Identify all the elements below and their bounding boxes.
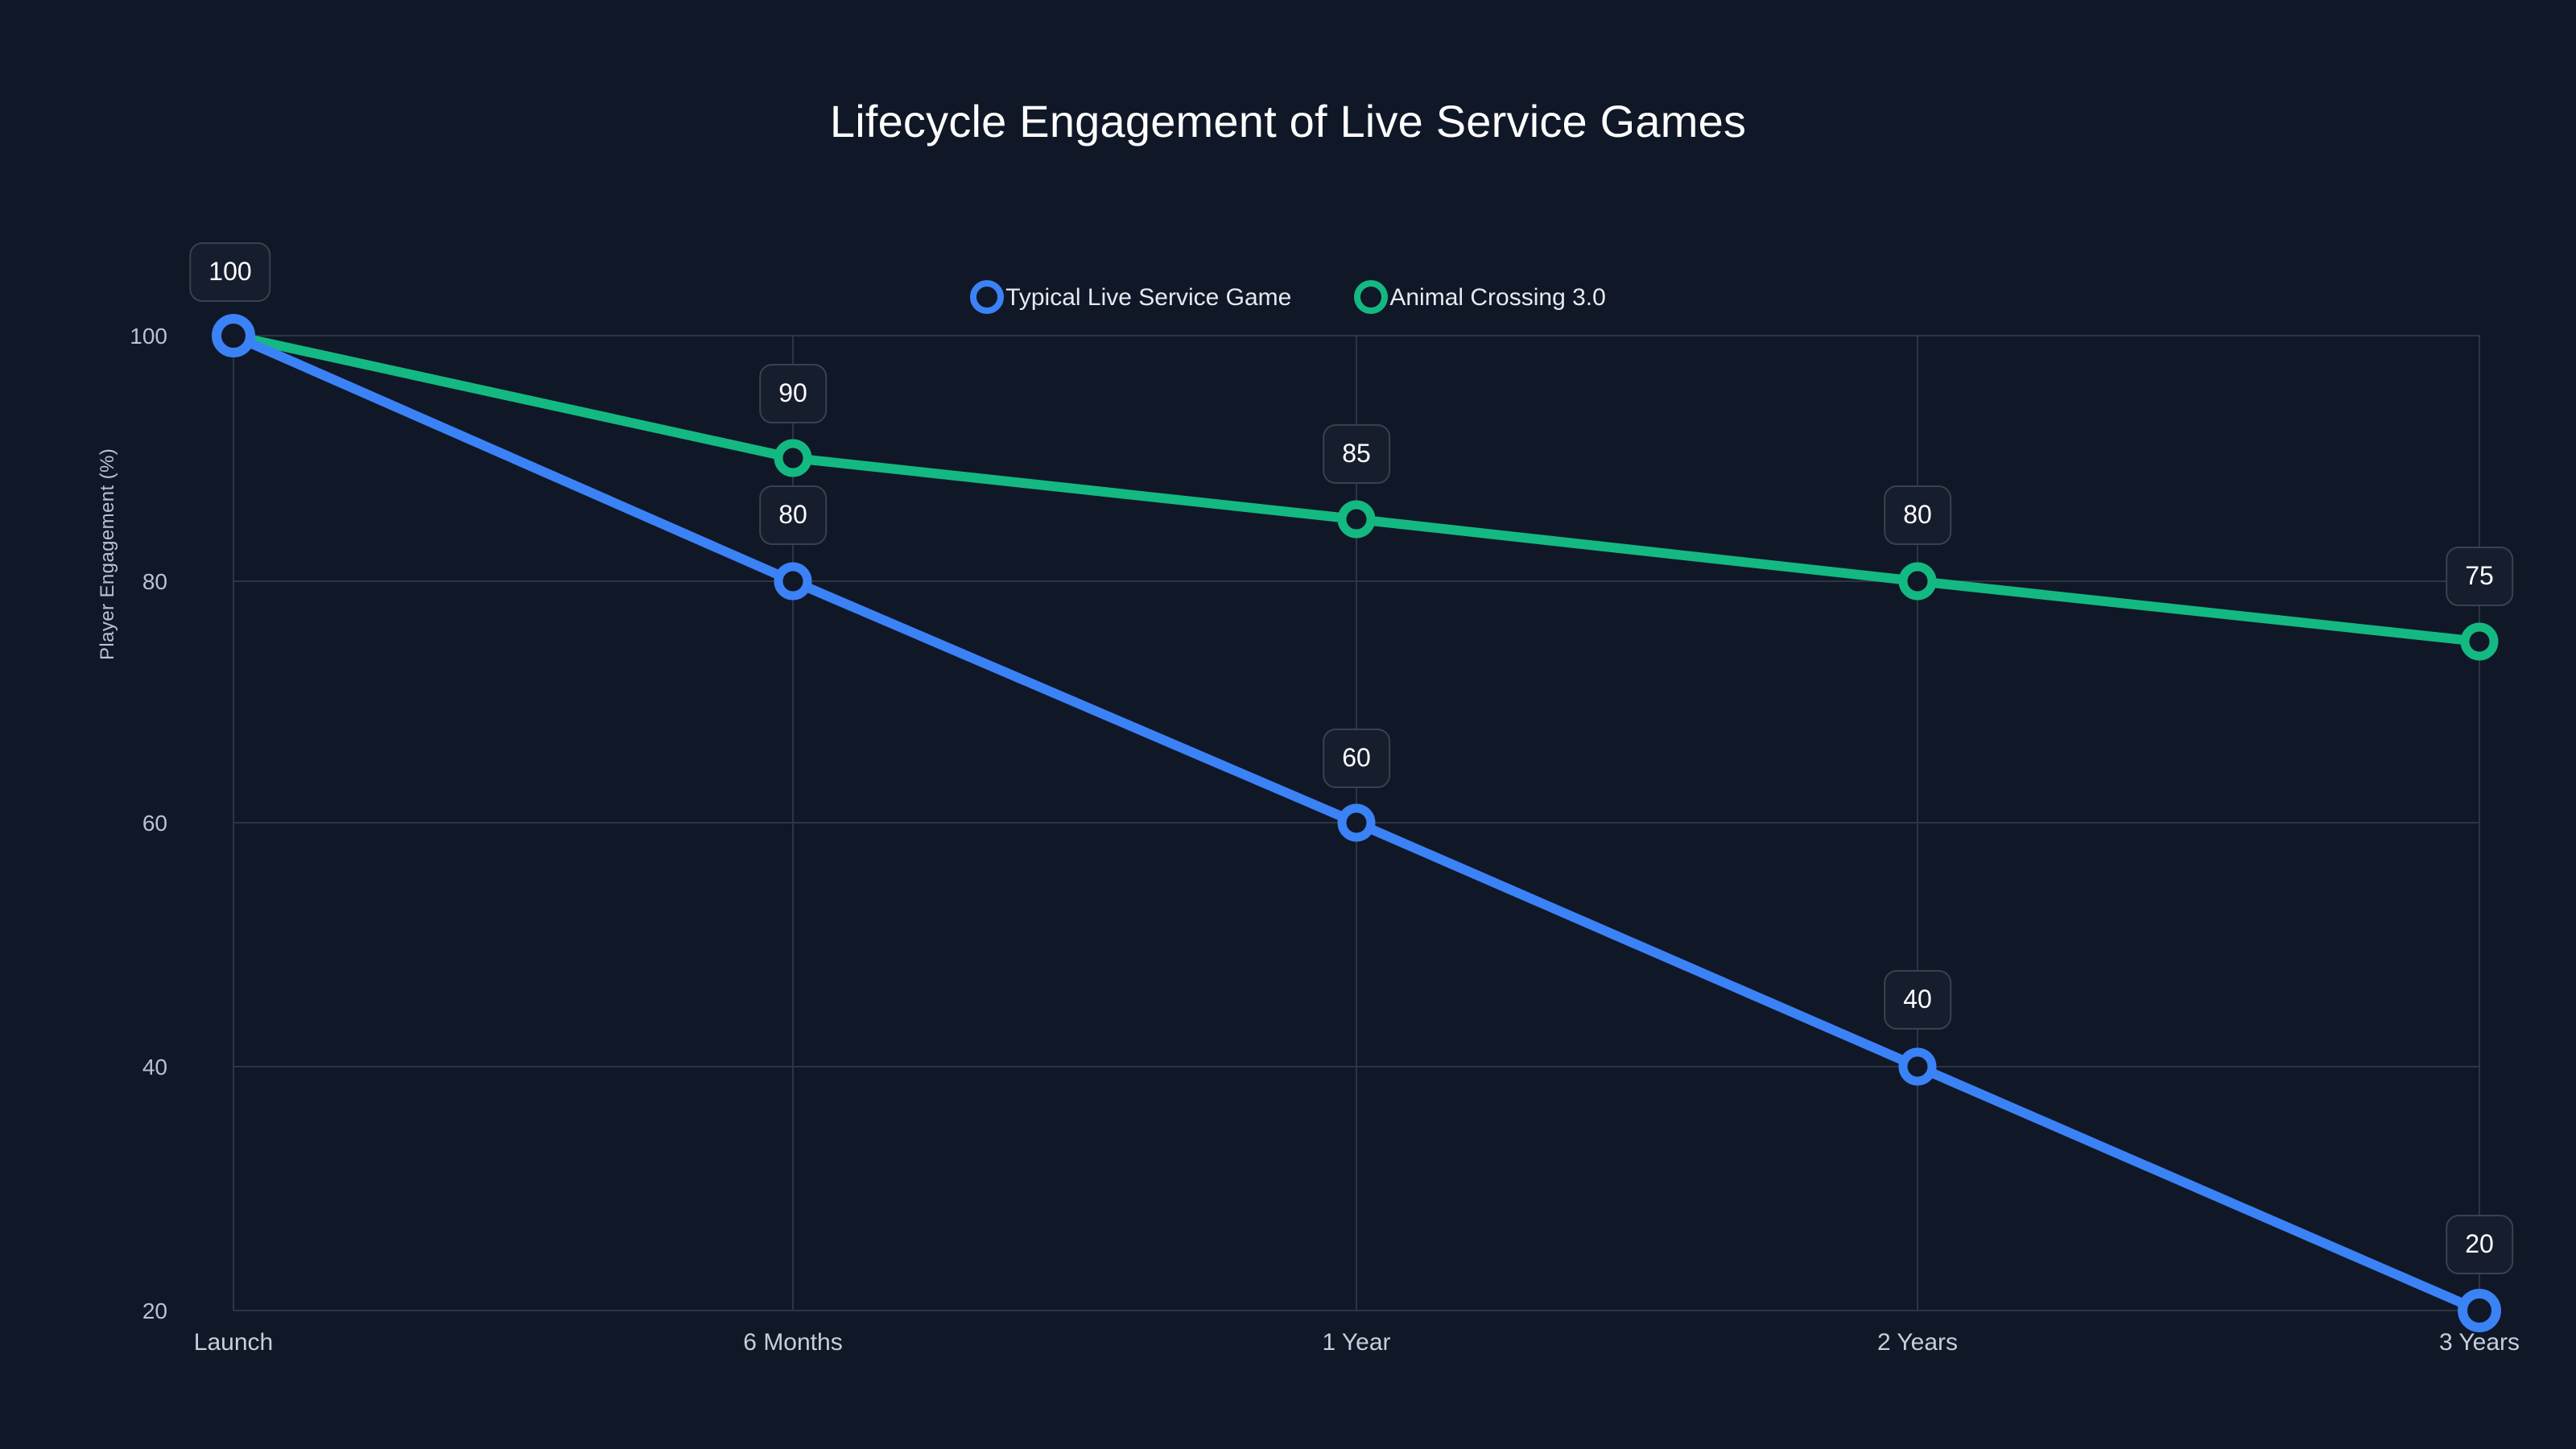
data-label-typical-6-months: 80: [759, 485, 827, 545]
y-axis-tick-20: 20: [95, 1300, 167, 1323]
y-axis-tick-80: 80: [95, 571, 167, 593]
y-axis-tick-100: 100: [95, 325, 167, 348]
data-point-marker[interactable]: [2465, 627, 2494, 656]
x-axis-tick-1-year: 1 Year: [1322, 1331, 1390, 1355]
x-axis-tick-6-months: 6 Months: [743, 1331, 842, 1355]
data-point-marker[interactable]: [1903, 1052, 1932, 1081]
data-label-typical-2-years: 40: [1884, 970, 1951, 1030]
data-label-animal-crossing-2-years: 80: [1884, 485, 1951, 545]
data-label-animal-crossing-1-year: 85: [1323, 424, 1390, 484]
data-label-animal-crossing-3-years: 75: [2446, 547, 2513, 606]
data-label-animal-crossing-6-months: 90: [759, 364, 827, 423]
data-label-launch-100: 100: [189, 242, 270, 302]
y-axis-tick-40: 40: [95, 1056, 167, 1079]
y-axis-tick-60: 60: [95, 812, 167, 835]
data-label-typical-1-year: 60: [1323, 729, 1390, 788]
x-axis-tick-2-years: 2 Years: [1877, 1331, 1958, 1355]
data-label-typical-3-years: 20: [2446, 1215, 2513, 1274]
data-point-marker[interactable]: [778, 444, 807, 473]
x-axis-tick-3-years: 3 Years: [2439, 1331, 2520, 1355]
plot-area: [0, 0, 2576, 1449]
data-point-marker[interactable]: [1903, 567, 1932, 596]
data-point-marker[interactable]: [1342, 808, 1371, 837]
chart-container: Lifecycle Engagement of Live Service Gam…: [0, 0, 2576, 1449]
data-point-marker[interactable]: [778, 567, 807, 596]
y-axis-label: Player Engagement (%): [97, 448, 119, 660]
data-point-marker[interactable]: [217, 319, 250, 353]
x-axis-tick-launch: Launch: [194, 1331, 273, 1355]
data-point-marker[interactable]: [1342, 505, 1371, 534]
data-point-marker[interactable]: [2462, 1294, 2496, 1327]
